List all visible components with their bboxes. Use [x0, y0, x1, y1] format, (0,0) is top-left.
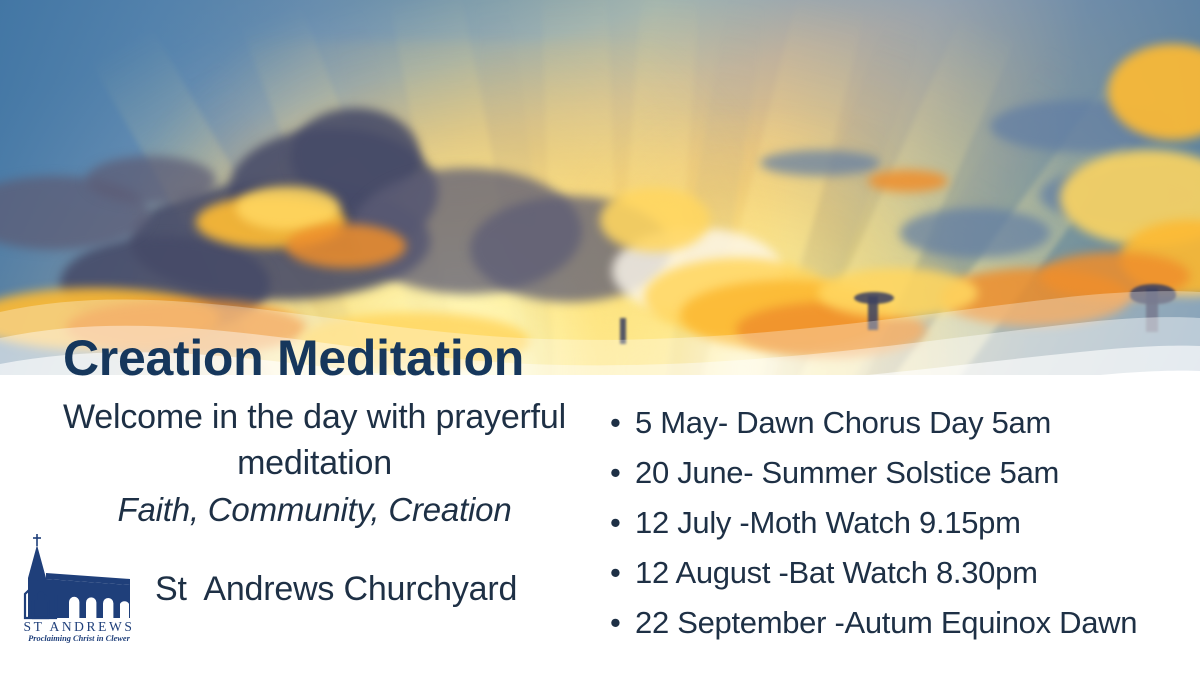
st-andrews-logo: ST ANDREWS Proclaiming Christ in Clewer — [12, 532, 146, 644]
list-item: 22 September -Autum Equinox Dawn — [609, 598, 1194, 648]
cloud — [600, 188, 710, 252]
intro-text-block: Welcome in the day with prayerful medita… — [22, 394, 607, 533]
cloud — [236, 186, 340, 230]
cloud — [86, 156, 216, 204]
event-list: 5 May- Dawn Chorus Day 5am 20 June- Summ… — [609, 398, 1194, 648]
cloud — [760, 150, 880, 176]
poster-canvas: Creation Meditation Welcome in the day w… — [0, 0, 1200, 675]
cloud — [868, 170, 948, 192]
list-item: 20 June- Summer Solstice 5am — [609, 448, 1194, 498]
cloud — [900, 208, 1050, 258]
list-item: 12 July -Moth Watch 9.15pm — [609, 498, 1194, 548]
logo-name: ST ANDREWS — [24, 619, 135, 634]
list-item: 12 August -Bat Watch 8.30pm — [609, 548, 1194, 598]
venue-label: St Andrews Churchyard — [155, 570, 517, 609]
lead-text: Welcome in the day with prayerful medita… — [22, 394, 607, 486]
list-item: 5 May- Dawn Chorus Day 5am — [609, 398, 1194, 448]
tagline-text: Faith, Community, Creation — [22, 488, 607, 533]
logo-tagline: Proclaiming Christ in Clewer — [28, 634, 130, 643]
cloud — [286, 224, 406, 268]
page-title: Creation Meditation — [63, 331, 524, 385]
